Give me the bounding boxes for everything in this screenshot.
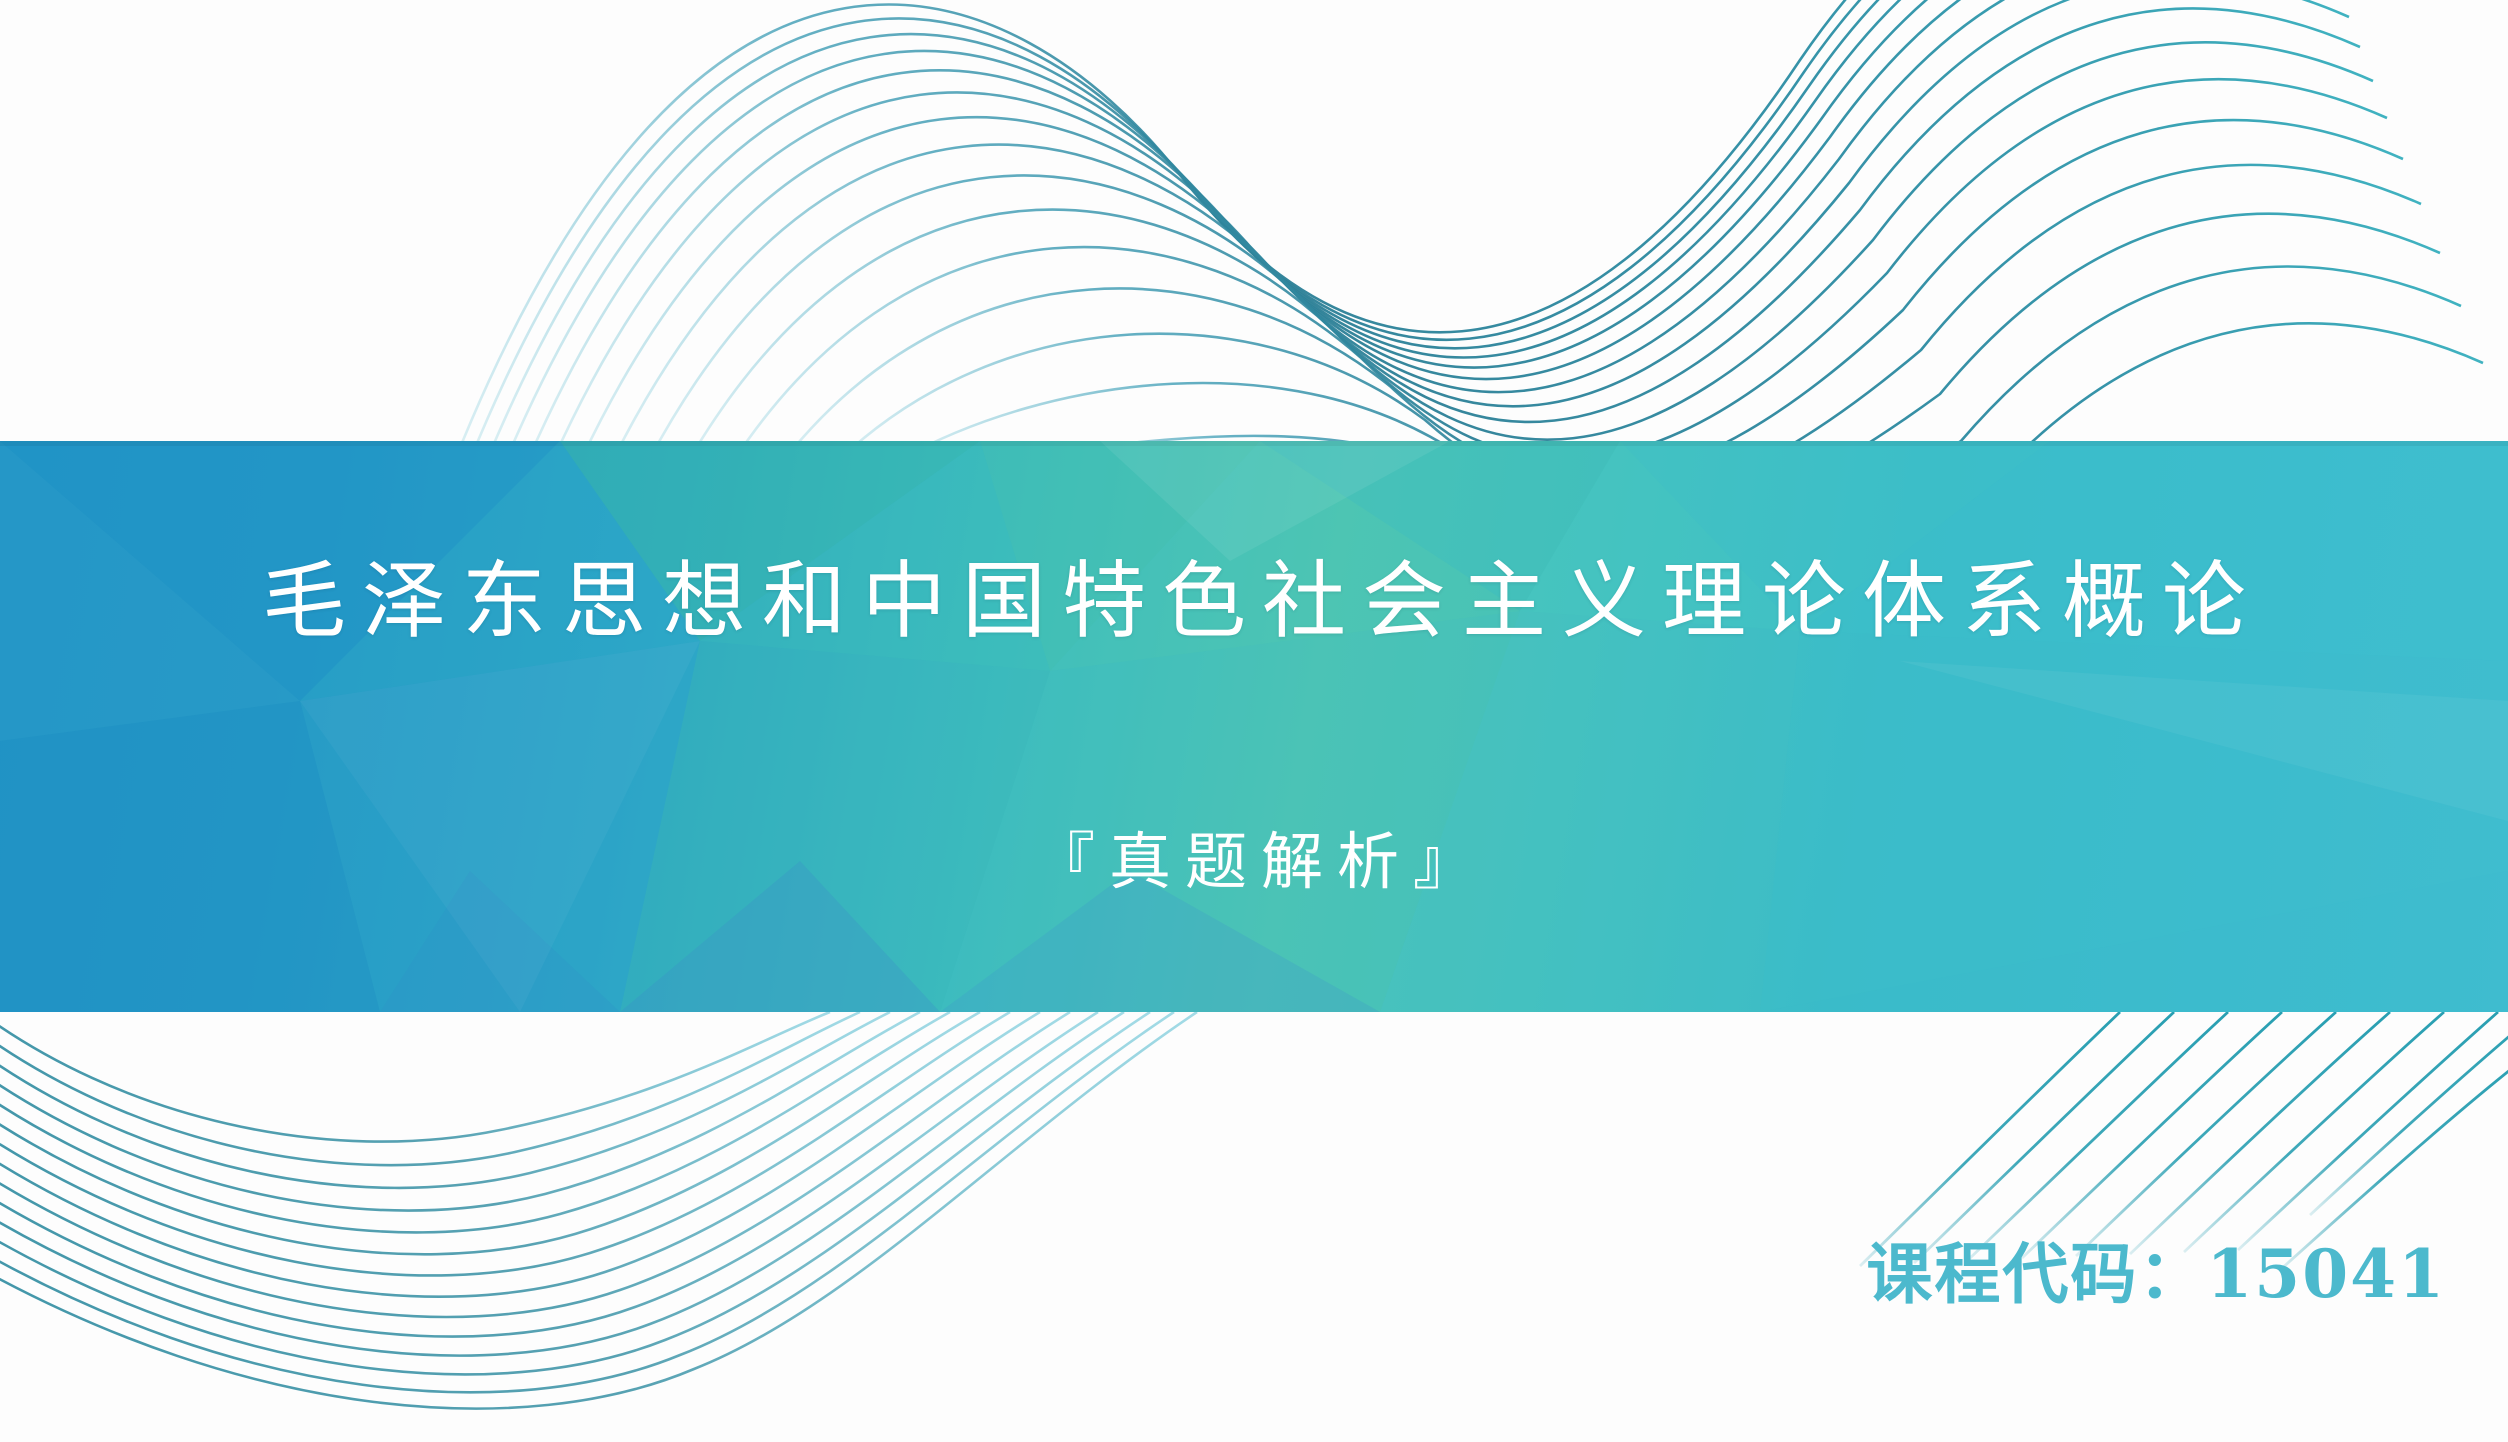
- course-code: 课程代码：15041: [1866, 1234, 2446, 1314]
- banner-top-shadow: [0, 441, 2508, 446]
- title-banner: [0, 441, 2508, 1012]
- page-title: 毛泽东思想和中国特色社会主义理论体系概论: [0, 546, 2508, 656]
- slide-canvas: 毛泽东思想和中国特色社会主义理论体系概论 『真题解析』 课程代码：15041: [0, 0, 2508, 1442]
- subtitle: 『真题解析』: [0, 818, 2508, 906]
- low-poly-mosaic: [0, 441, 2508, 1012]
